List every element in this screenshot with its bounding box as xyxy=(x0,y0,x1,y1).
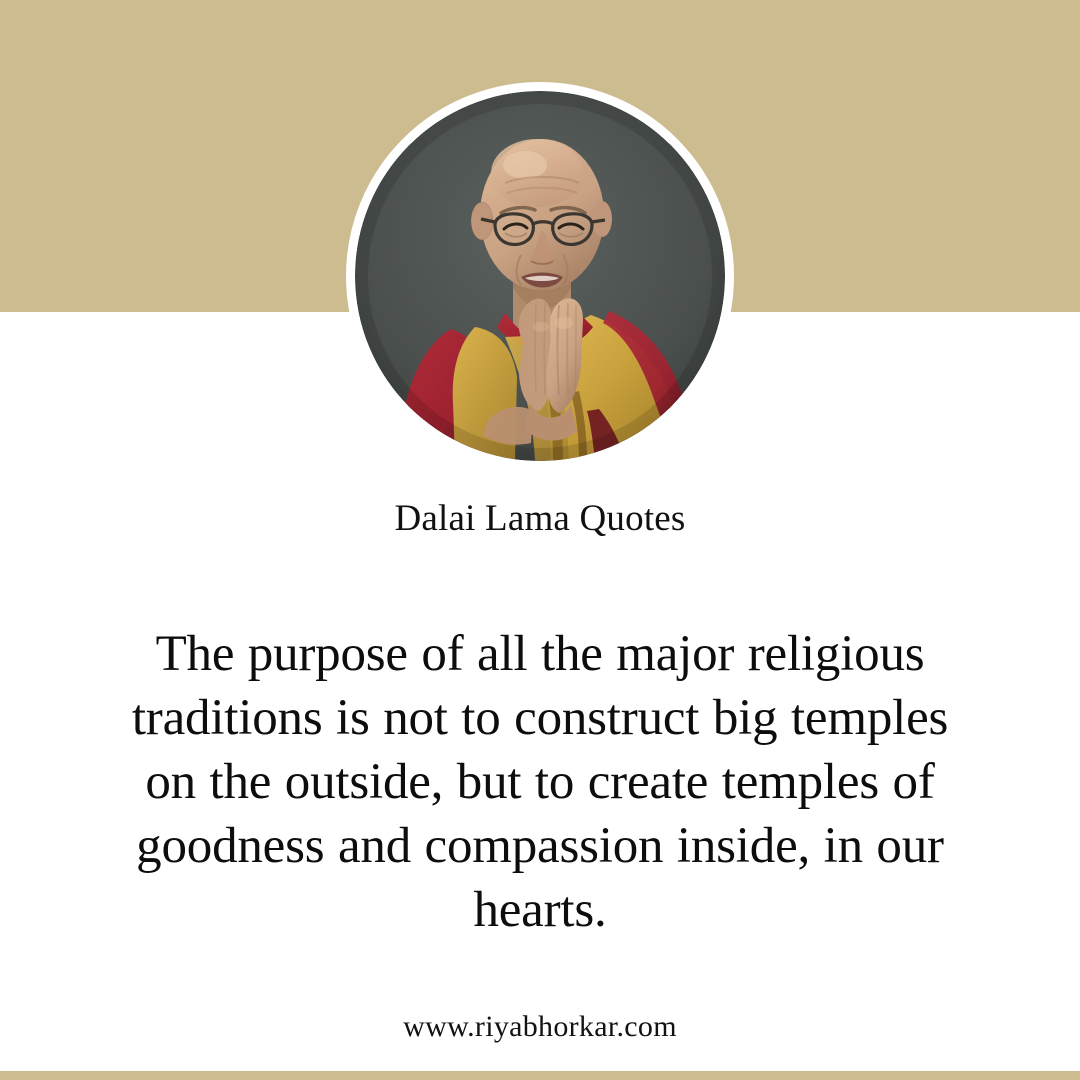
dalai-lama-portrait-icon xyxy=(355,91,725,461)
page-title: Dalai Lama Quotes xyxy=(0,496,1080,542)
quote-content: Dalai Lama Quotes The purpose of all the… xyxy=(0,496,1080,942)
spacer xyxy=(0,542,1080,622)
bottom-color-bar xyxy=(0,1071,1080,1080)
website-url: www.riyabhorkar.com xyxy=(0,1008,1080,1046)
portrait-illustration xyxy=(355,91,725,461)
avatar xyxy=(346,82,734,470)
quote-card: Dalai Lama Quotes The purpose of all the… xyxy=(0,0,1080,1080)
quote-text: The purpose of all the major religious t… xyxy=(0,622,1080,942)
